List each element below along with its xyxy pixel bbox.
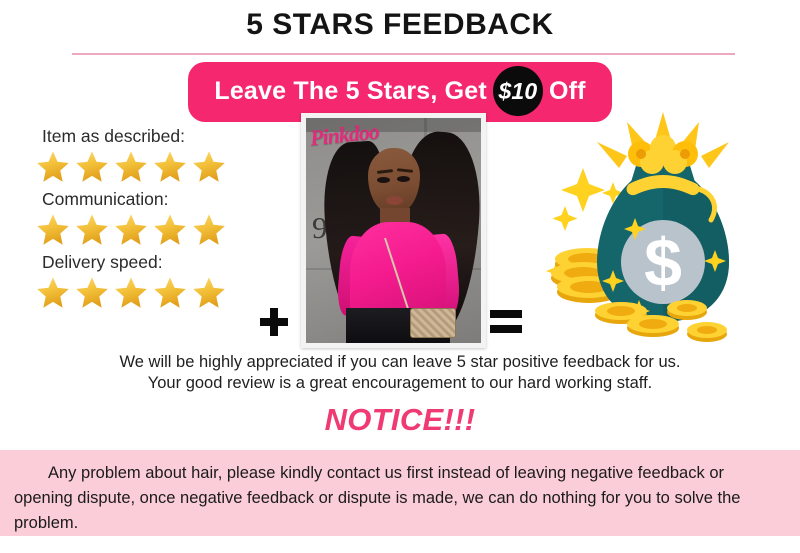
promo-banner-text-after: Off — [549, 77, 586, 106]
star-row — [34, 148, 258, 184]
star-icon — [73, 211, 111, 247]
star-icon — [151, 148, 189, 184]
star-icon — [190, 148, 228, 184]
star-icon — [190, 274, 228, 310]
star-icon — [151, 274, 189, 310]
page-title: 5 STARS FEEDBACK — [0, 8, 800, 42]
pink-top — [350, 222, 446, 314]
disclaimer-text: Any problem about hair, please kindly co… — [14, 461, 778, 536]
star-icon — [34, 148, 72, 184]
star-icon — [112, 274, 150, 310]
disclaimer-block: Any problem about hair, please kindly co… — [0, 450, 800, 536]
star-icon — [73, 148, 111, 184]
rating-item-item-as-described: Item as described: — [28, 126, 258, 184]
star-icon — [151, 211, 189, 247]
equation-row: Item as described: Communication: — [0, 108, 800, 353]
star-row — [34, 274, 258, 310]
rating-item-delivery-speed: Delivery speed: — [28, 252, 258, 310]
star-icon — [34, 211, 72, 247]
money-bag-illustration: $ — [535, 110, 790, 350]
product-photo-frame: 90 Pinkdoo — [301, 113, 486, 348]
plus-icon — [258, 306, 290, 338]
ratings-group: Item as described: Communication: — [28, 126, 258, 315]
star-icon — [112, 148, 150, 184]
star-icon — [34, 274, 72, 310]
star-icon — [190, 211, 228, 247]
title-divider — [72, 53, 735, 55]
dollar-sign-text: $ — [644, 225, 682, 301]
star-icon — [112, 211, 150, 247]
appreciation-line-1: We will be highly appreciated if you can… — [0, 352, 800, 373]
notice-heading: NOTICE!!! — [0, 402, 800, 438]
promo-banner-text-before: Leave The 5 Stars, Get — [214, 77, 487, 106]
equals-icon — [489, 308, 523, 336]
promo-amount-badge: $10 — [493, 66, 543, 116]
product-photo: 90 Pinkdoo — [306, 118, 481, 343]
handbag — [410, 308, 456, 338]
star-icon — [73, 274, 111, 310]
feedback-banner-page: 5 STARS FEEDBACK Leave The 5 Stars, Get … — [0, 0, 800, 553]
star-row — [34, 211, 258, 247]
rating-item-communication: Communication: — [28, 189, 258, 247]
appreciation-line-2: Your good review is a great encouragemen… — [0, 373, 800, 394]
rating-label: Communication: — [42, 189, 258, 210]
rating-label: Item as described: — [42, 126, 258, 147]
lips-shape — [386, 196, 403, 205]
appreciation-copy: We will be highly appreciated if you can… — [0, 352, 800, 394]
rating-label: Delivery speed: — [42, 252, 258, 273]
